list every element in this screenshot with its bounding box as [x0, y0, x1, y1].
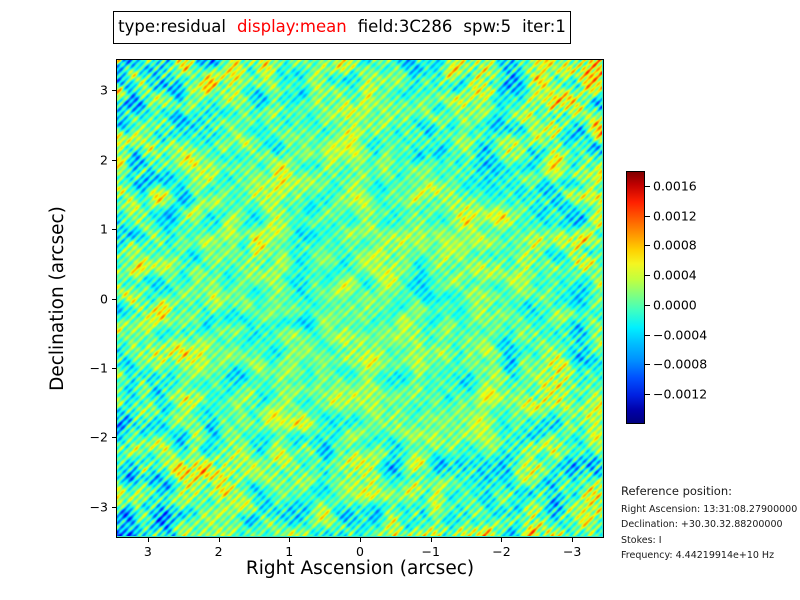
x-tick-mark: [431, 538, 432, 542]
x-tick-mark: [360, 538, 361, 542]
reference-position-frequency: Frequency: 4.44219914e+10 Hz: [621, 548, 800, 563]
x-tick-label: 0: [356, 544, 364, 559]
colorbar-tick-label: 0.0004: [653, 268, 697, 283]
colorbar-tick-label: −0.0012: [653, 387, 707, 402]
reference-position-stokes: Stokes: I: [621, 533, 800, 548]
colorbar-tick-mark: [645, 216, 650, 217]
colorbar-tick-label: 0.0012: [653, 208, 697, 223]
x-tick-label: −3: [563, 544, 581, 559]
title-item-display: display:mean: [237, 19, 347, 36]
x-tick-mark: [289, 538, 290, 542]
x-tick-mark: [148, 538, 149, 542]
title-item-iter: iter:1: [522, 19, 566, 36]
colorbar[interactable]: [626, 171, 645, 424]
x-tick-label: −1: [422, 544, 440, 559]
y-tick-label: −2: [90, 430, 108, 445]
colorbar-tick-mark: [645, 186, 650, 187]
x-tick-mark: [219, 538, 220, 542]
residual-image-plot[interactable]: [116, 59, 604, 538]
colorbar-tick-mark: [645, 245, 650, 246]
reference-position-block: Reference position: Right Ascension: 13:…: [621, 484, 800, 564]
x-tick-label: 2: [215, 544, 223, 559]
y-tick-label: −1: [90, 360, 108, 375]
colorbar-tick-mark: [645, 335, 650, 336]
x-tick-mark: [501, 538, 502, 542]
colorbar-tick-mark: [645, 275, 650, 276]
reference-position-heading: Reference position:: [621, 484, 800, 498]
x-tick-label: 3: [144, 544, 152, 559]
reference-position-ra: Right Ascension: 13:31:08.27900000: [621, 502, 800, 517]
y-tick-mark: [112, 507, 116, 508]
y-tick-mark: [112, 368, 116, 369]
image-info-titlebar: type:residual display:mean field:3C286 s…: [113, 11, 571, 44]
colorbar-tick-mark: [645, 305, 650, 306]
x-axis-title: Right Ascension (arcsec): [116, 558, 604, 579]
colorbar-tick-label: −0.0004: [653, 327, 707, 342]
colorbar-tick-mark: [645, 364, 650, 365]
reference-position-dec: Declination: +30.30.32.88200000: [621, 517, 800, 532]
y-tick-mark: [112, 299, 116, 300]
title-item-field: field:3C286: [358, 19, 453, 36]
x-tick-label: 1: [285, 544, 293, 559]
colorbar-gradient: [626, 171, 645, 424]
y-tick-mark: [112, 90, 116, 91]
y-tick-label: 0: [100, 291, 108, 306]
residual-heatmap-canvas[interactable]: [117, 60, 602, 536]
title-item-spw: spw:5: [463, 19, 511, 36]
y-axis-title: Declination (arcsec): [47, 59, 68, 538]
x-tick-label: −2: [492, 544, 510, 559]
y-tick-label: 2: [100, 152, 108, 167]
y-tick-mark: [112, 229, 116, 230]
title-item-type: type:residual: [118, 19, 226, 36]
x-tick-mark: [572, 538, 573, 542]
y-tick-label: −3: [90, 499, 108, 514]
y-tick-mark: [112, 160, 116, 161]
colorbar-tick-label: 0.0008: [653, 238, 697, 253]
y-tick-mark: [112, 437, 116, 438]
y-tick-label: 1: [100, 222, 108, 237]
y-tick-label: 3: [100, 83, 108, 98]
colorbar-tick-label: −0.0008: [653, 357, 707, 372]
colorbar-tick-label: 0.0000: [653, 297, 697, 312]
colorbar-tick-label: 0.0016: [653, 178, 697, 193]
colorbar-tick-mark: [645, 394, 650, 395]
